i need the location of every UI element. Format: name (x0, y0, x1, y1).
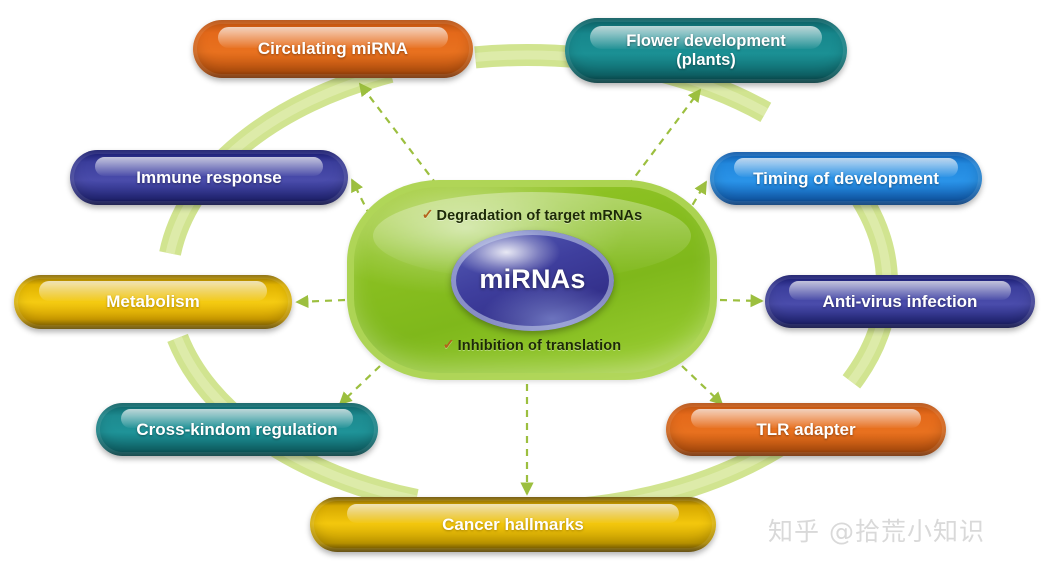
node-flower-development[interactable]: Flower development (plants) (565, 18, 847, 83)
node-immune-response-label: Immune response (120, 168, 298, 187)
node-flower-development-label: Flower development (plants) (610, 32, 802, 69)
central-hub: ✓Degradation of target mRNAs miRNAs ✓Inh… (347, 180, 717, 380)
core-label: miRNAs (479, 264, 585, 295)
node-timing-development[interactable]: Timing of development (710, 152, 982, 205)
node-cross-kindom-regulation-label: Cross-kindom regulation (120, 420, 353, 439)
node-tlr-adapter[interactable]: TLR adapter (666, 403, 946, 456)
arrow-to-anti-virus (720, 300, 762, 301)
node-circulating-mirna[interactable]: Circulating miRNA (193, 20, 473, 78)
node-tlr-adapter-label: TLR adapter (740, 420, 871, 439)
hub-bullet-degradation-label: Degradation of target mRNAs (437, 208, 643, 224)
check-icon: ✓ (422, 206, 434, 222)
node-cancer-hallmarks-label: Cancer hallmarks (426, 515, 600, 534)
node-circulating-mirna-label: Circulating miRNA (242, 39, 424, 58)
node-anti-virus-infection[interactable]: Anti-virus infection (765, 275, 1035, 328)
hub-bullet-inhibition: ✓Inhibition of translation (347, 337, 717, 354)
hub-bullet-degradation: ✓Degradation of target mRNAs (347, 207, 717, 224)
arrow-to-metabolism (297, 300, 345, 302)
node-metabolism-label: Metabolism (90, 292, 216, 311)
arrow-to-tlr-adapter (682, 366, 722, 404)
node-anti-virus-infection-label: Anti-virus infection (807, 292, 994, 311)
arrow-to-cross-kindom (340, 366, 380, 404)
check-icon: ✓ (443, 336, 455, 352)
watermark: 知乎 @拾荒小知识 (768, 512, 985, 548)
node-metabolism[interactable]: Metabolism (14, 275, 292, 329)
hub-bullet-inhibition-label: Inhibition of translation (458, 338, 622, 354)
arrow-to-flower-development (628, 90, 700, 186)
node-timing-development-label: Timing of development (737, 169, 955, 188)
node-immune-response[interactable]: Immune response (70, 150, 348, 205)
core-mirnas: miRNAs (451, 230, 614, 331)
arrow-to-circulating-mirna (360, 84, 437, 185)
node-cross-kindom-regulation[interactable]: Cross-kindom regulation (96, 403, 378, 456)
node-cancer-hallmarks[interactable]: Cancer hallmarks (310, 497, 716, 552)
diagram-canvas: ✓Degradation of target mRNAs miRNAs ✓Inh… (0, 0, 1052, 565)
